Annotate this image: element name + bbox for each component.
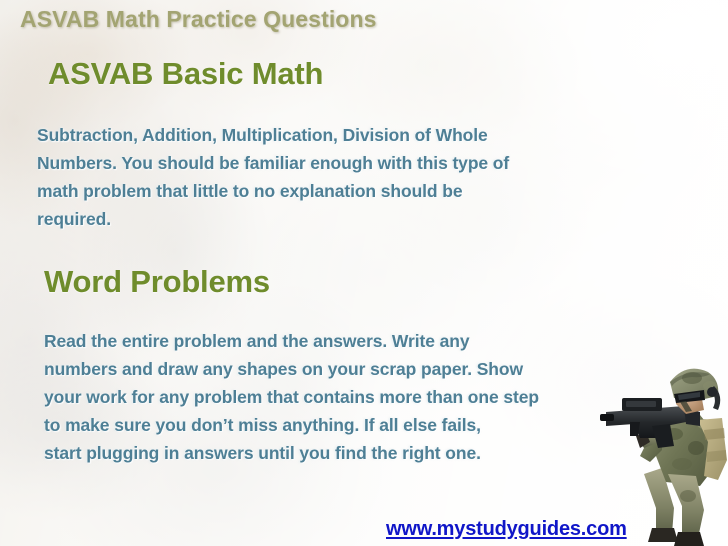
presentation-slide: ASVAB Math Practice Questions ASVAB Basi… (0, 0, 728, 546)
body-line: your work for any problem that contains … (44, 383, 654, 411)
section-body-word-problems: Read the entire problem and the answers.… (44, 327, 654, 467)
body-line: math problem that little to no explanati… (37, 177, 617, 205)
body-line: to make sure you don’t miss anything. If… (44, 411, 654, 439)
body-line: Subtraction, Addition, Multiplication, D… (37, 121, 617, 149)
body-line: Read the entire problem and the answers.… (44, 327, 654, 355)
body-line: required. (37, 205, 617, 233)
section-heading-basic-math: ASVAB Basic Math (48, 56, 323, 92)
section-body-basic-math: Subtraction, Addition, Multiplication, D… (37, 121, 617, 233)
website-link[interactable]: www.mystudyguides.com (386, 518, 627, 541)
section-heading-word-problems: Word Problems (44, 264, 270, 300)
body-line: numbers and draw any shapes on your scra… (44, 355, 654, 383)
body-line: Numbers. You should be familiar enough w… (37, 149, 617, 177)
body-line: start plugging in answers until you find… (44, 439, 654, 467)
slide-title: ASVAB Math Practice Questions (20, 6, 377, 33)
